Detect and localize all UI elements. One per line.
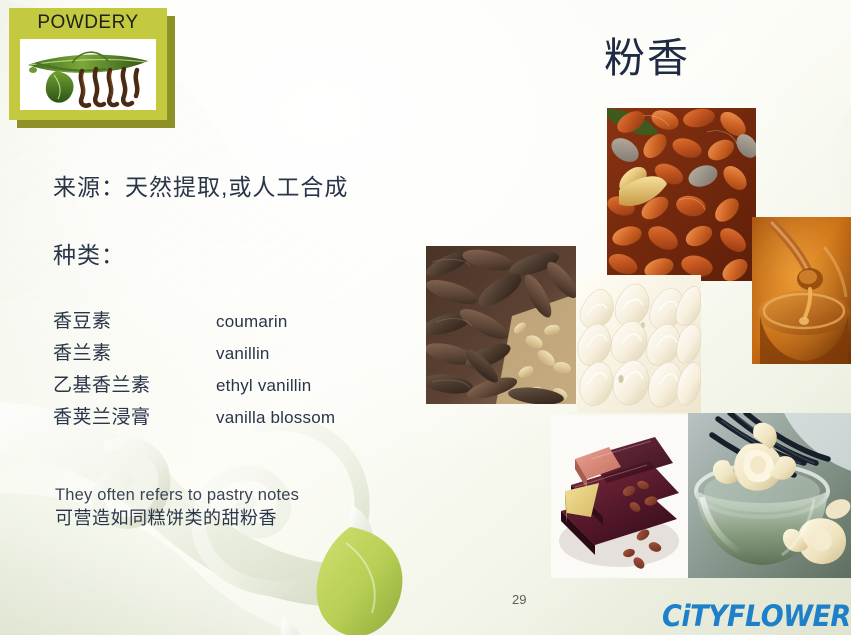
page-number: 29 — [512, 592, 526, 607]
logo-badge-label: POWDERY — [9, 12, 167, 34]
ingredient-term-list: 香豆素 coumarin 香兰素 vanillin 乙基香兰素 ethyl va… — [53, 306, 413, 434]
list-item: 香豆素 coumarin — [53, 306, 413, 338]
list-item: 香荚兰浸膏 vanilla blossom — [53, 402, 413, 434]
term-english: ethyl vanillin — [216, 376, 311, 396]
almonds-photo — [607, 108, 756, 281]
cityflower-brand-logo: CiTYFLOWER — [662, 600, 851, 633]
page-title: 粉香 — [604, 24, 690, 84]
term-english: vanilla blossom — [216, 408, 335, 428]
slide-canvas: POWDERY — [0, 0, 851, 635]
source-text: 来源：天然提取,或人工合成 — [53, 168, 348, 202]
vanilla-pod-plant-icon — [20, 39, 156, 110]
powdery-logo-badge: POWDERY — [9, 8, 167, 120]
term-english: vanillin — [216, 344, 270, 364]
logo-badge-box: POWDERY — [9, 8, 167, 120]
honey-dipper-photo — [752, 217, 851, 364]
footnote-block: They often refers to pastry notes 可营造如同糕… — [55, 485, 299, 531]
list-item: 乙基香兰素 ethyl vanillin — [53, 370, 413, 402]
term-chinese: 香豆素 — [53, 306, 216, 333]
tonka-beans-photo — [426, 246, 576, 404]
kinds-text: 种类： — [53, 236, 125, 270]
vanilla-pods-bowl-photo — [688, 413, 851, 578]
term-chinese: 香兰素 — [53, 338, 216, 365]
term-chinese: 乙基香兰素 — [53, 370, 216, 397]
whipped-cream-photo — [577, 275, 701, 413]
term-chinese: 香荚兰浸膏 — [53, 402, 216, 429]
list-item: 香兰素 vanillin — [53, 338, 413, 370]
footnote-chinese: 可营造如同糕饼类的甜粉香 — [55, 507, 299, 531]
chocolate-pieces-photo — [551, 415, 688, 578]
term-english: coumarin — [216, 312, 288, 332]
footnote-english: They often refers to pastry notes — [55, 485, 299, 507]
